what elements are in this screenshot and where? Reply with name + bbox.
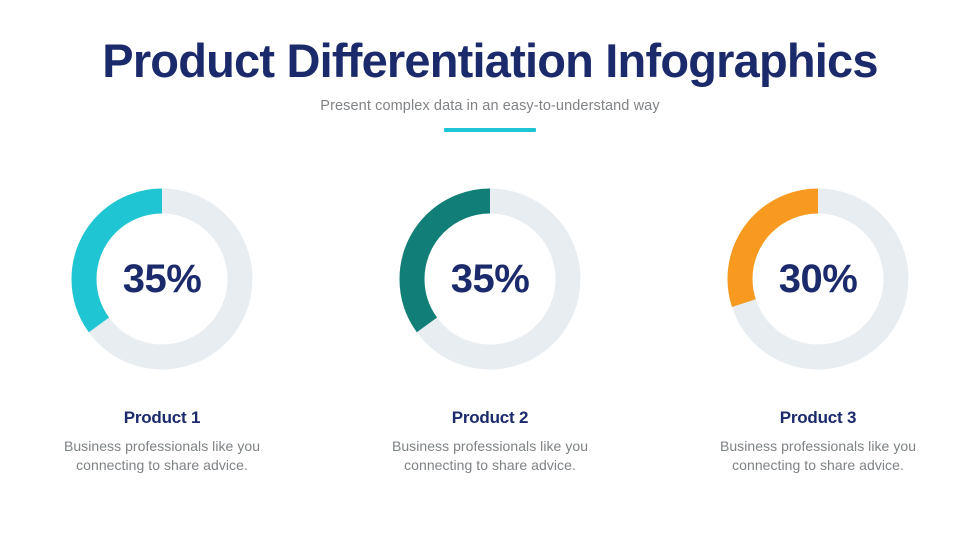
donut-ring-1: 35% [65, 182, 259, 376]
donut-ring-2: 35% [393, 182, 587, 376]
caption-product-3: Product 3 Business professionals like yo… [688, 408, 948, 475]
product-desc-1: Business professionals like you connecti… [32, 437, 292, 475]
title-divider [444, 128, 536, 132]
caption-product-2: Product 2 Business professionals like yo… [360, 408, 620, 475]
caption-row: Product 1 Business professionals like yo… [0, 408, 980, 475]
donut-chart-product-1: 35% [32, 182, 292, 376]
product-name-1: Product 1 [32, 408, 292, 428]
page-subtitle: Present complex data in an easy-to-under… [0, 98, 980, 114]
donut-chart-product-2: 35% [360, 182, 620, 376]
product-desc-3: Business professionals like you connecti… [688, 437, 948, 475]
product-desc-2-line2: connecting to share advice. [404, 457, 576, 473]
product-name-2: Product 2 [360, 408, 620, 428]
slide-header: Product Differentiation Infographics Pre… [0, 36, 980, 132]
product-desc-2-line1: Business professionals like you [392, 438, 588, 454]
title-divider-wrap [0, 128, 980, 132]
product-desc-1-line1: Business professionals like you [64, 438, 260, 454]
donut-value-1: 35% [65, 182, 259, 376]
donut-chart-row: 35% 35% 30% [0, 182, 980, 376]
donut-value-3: 30% [721, 182, 915, 376]
donut-chart-product-3: 30% [688, 182, 948, 376]
page-title: Product Differentiation Infographics [0, 36, 980, 86]
caption-product-1: Product 1 Business professionals like yo… [32, 408, 292, 475]
slide-canvas: Product Differentiation Infographics Pre… [0, 0, 980, 551]
product-desc-1-line2: connecting to share advice. [76, 457, 248, 473]
donut-value-2: 35% [393, 182, 587, 376]
product-desc-3-line1: Business professionals like you [720, 438, 916, 454]
product-desc-2: Business professionals like you connecti… [360, 437, 620, 475]
donut-ring-3: 30% [721, 182, 915, 376]
product-desc-3-line2: connecting to share advice. [732, 457, 904, 473]
product-name-3: Product 3 [688, 408, 948, 428]
